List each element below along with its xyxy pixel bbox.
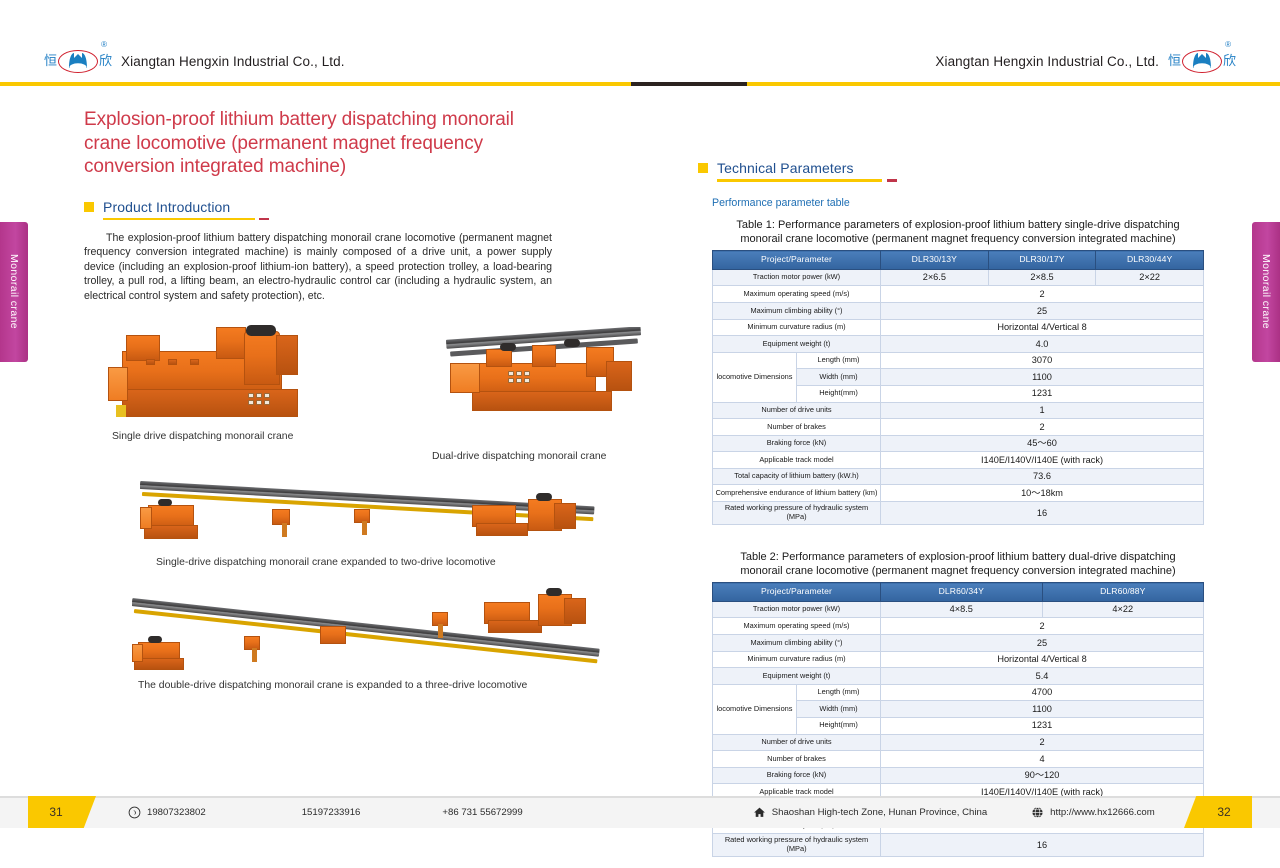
table-row: Maximum climbing ability (°) 25	[713, 635, 1204, 652]
phone-icon	[128, 806, 141, 819]
row-label: Length (mm)	[797, 352, 881, 369]
registered-trademark-icon: ®	[101, 40, 107, 49]
section-title-product-introduction: Product Introduction	[103, 199, 230, 215]
row-label: Length (mm)	[797, 684, 881, 701]
logo-char-heng: 恒	[44, 55, 57, 68]
table1-head: Project/Parameter DLR30/13Y DLR30/17Y DL…	[713, 251, 1204, 270]
footer-phone-3: +86 731 55672999	[442, 807, 522, 818]
row-value: 4×22	[1042, 601, 1204, 618]
side-tab-monorail-crane-left[interactable]: Monorail crane	[0, 222, 28, 362]
row-value: 2×22	[1096, 269, 1204, 286]
registered-trademark-icon-right: ®	[1225, 40, 1231, 49]
table1-col-dlr30-44y: DLR30/44Y	[1096, 251, 1204, 270]
caption-expanded-two-drive: Single-drive dispatching monorail crane …	[156, 557, 716, 568]
company-name-left: Xiangtan Hengxin Industrial Co., Ltd.	[121, 54, 345, 69]
header-divider	[0, 82, 1280, 86]
brochure-page: 恒 ® 欣 Xiangtan Hengxin Industrial Co., L…	[0, 0, 1280, 868]
row-value: 2	[881, 734, 1204, 751]
table2-header-row: Project/Parameter DLR60/34Y DLR60/88Y	[713, 583, 1204, 602]
table-row: Braking force (kN) 45～60	[713, 435, 1204, 452]
table1-header-row: Project/Parameter DLR30/13Y DLR30/17Y DL…	[713, 251, 1204, 270]
page-number-right-label: 32	[1217, 805, 1230, 819]
logo-mountain-icon: ®	[58, 49, 98, 74]
row-value: 5.4	[881, 668, 1204, 685]
photo-three-drive-expanded	[132, 588, 612, 676]
row-label: Number of brakes	[713, 751, 881, 768]
row-label: Comprehensive endurance of lithium batte…	[713, 485, 881, 502]
bullet-square-icon-tech	[698, 163, 708, 173]
row-value: 1231	[881, 717, 1204, 734]
row-value: Horizontal 4/Vertical 8	[881, 651, 1204, 668]
table-row: Traction motor power (kW) 2×6.5 2×8.5 2×…	[713, 269, 1204, 286]
bullet-square-icon	[84, 202, 94, 212]
row-label: Traction motor power (kW)	[713, 269, 881, 286]
row-value: 2	[881, 618, 1204, 635]
table2-caption: Table 2: Performance parameters of explo…	[723, 550, 1193, 578]
section-underline-tech	[717, 179, 917, 183]
row-value: 2×8.5	[988, 269, 1096, 286]
table-row: Applicable track model I140E/I140V/I140E…	[713, 452, 1204, 469]
table1-col-dlr30-13y: DLR30/13Y	[881, 251, 989, 270]
row-value: 2×6.5	[881, 269, 989, 286]
row-value: 1	[881, 402, 1204, 419]
row-label: Maximum climbing ability (°)	[713, 303, 881, 320]
row-value: I140E/I140V/I140E (with rack)	[881, 452, 1204, 469]
right-column: Technical Parameters Performance paramet…	[698, 160, 1218, 857]
logo-mountain-icon-right: ®	[1182, 49, 1222, 74]
performance-table-label: Performance parameter table	[712, 197, 1218, 209]
footer-phone-1-text: 19807323802	[147, 807, 206, 818]
row-label: Braking force (kN)	[713, 435, 881, 452]
table-row: Maximum operating speed (m/s) 2	[713, 286, 1204, 303]
side-tab-monorail-crane-right[interactable]: Monorail crane	[1252, 222, 1280, 362]
globe-icon	[1031, 806, 1044, 819]
photo-two-drive-expanded	[140, 479, 610, 549]
section-underline	[103, 218, 286, 222]
footer-address: Shaoshan High-tech Zone, Hunan Province,…	[753, 806, 987, 819]
table-spacer	[698, 525, 1218, 541]
underline-yellow-tech	[717, 179, 882, 182]
row-label: Maximum operating speed (m/s)	[713, 618, 881, 635]
header-brand-right: Xiangtan Hengxin Industrial Co., Ltd. 恒 …	[935, 46, 1236, 76]
row-label: Width (mm)	[797, 369, 881, 386]
underline-red-tech	[887, 179, 897, 182]
photo-dual-drive-crane	[446, 327, 646, 427]
company-logo-left: 恒 ® 欣	[44, 46, 112, 76]
table2-col-project: Project/Parameter	[713, 583, 881, 602]
table-row: Maximum operating speed (m/s) 2	[713, 618, 1204, 635]
header-rule-yellow-right	[747, 82, 1280, 86]
row-value: 90～120	[881, 767, 1204, 784]
row-label: Equipment weight (t)	[713, 668, 881, 685]
caption-expanded-three-drive: The double-drive dispatching monorail cr…	[138, 680, 698, 691]
table-row: Minimum curvature radius (m) Horizontal …	[713, 319, 1204, 336]
row-label: Number of drive units	[713, 734, 881, 751]
row-label: Maximum climbing ability (°)	[713, 635, 881, 652]
row-value: 2	[881, 286, 1204, 303]
page-number-left-label: 31	[49, 805, 62, 819]
logo-char-xin-right: 欣	[1223, 55, 1236, 68]
table1-col-project: Project/Parameter	[713, 251, 881, 270]
section-title-technical-parameters: Technical Parameters	[717, 160, 854, 176]
page-header: 恒 ® 欣 Xiangtan Hengxin Industrial Co., L…	[0, 0, 1280, 86]
row-value: 45～60	[881, 435, 1204, 452]
company-name-right: Xiangtan Hengxin Industrial Co., Ltd.	[935, 54, 1159, 69]
row-value: 25	[881, 635, 1204, 652]
photo-row-2	[84, 479, 644, 551]
row-value: 2	[881, 419, 1204, 436]
table-row: Equipment weight (t) 5.4	[713, 668, 1204, 685]
product-introduction-heading: Product Introduction	[84, 199, 644, 215]
table-row: Maximum climbing ability (°) 25	[713, 303, 1204, 320]
table-row: Number of brakes 4	[713, 751, 1204, 768]
row-label: Height(mm)	[797, 385, 881, 402]
caption-single-drive: Single drive dispatching monorail crane	[112, 431, 672, 442]
row-value: 4	[881, 751, 1204, 768]
table-row: Comprehensive endurance of lithium batte…	[713, 485, 1204, 502]
row-value: 4.0	[881, 336, 1204, 353]
row-label: Total capacity of lithium battery (kW.h)	[713, 468, 881, 485]
row-label: Minimum curvature radius (m)	[713, 319, 881, 336]
header-rule-dark-center	[631, 82, 747, 86]
row-label: Number of brakes	[713, 419, 881, 436]
table2-col-dlr60-34y: DLR60/34Y	[881, 583, 1043, 602]
logo-char-heng-right: 恒	[1168, 55, 1181, 68]
product-introduction-text: The explosion-proof lithium battery disp…	[84, 231, 552, 304]
company-logo-right: 恒 ® 欣	[1168, 46, 1236, 76]
home-icon	[753, 806, 766, 819]
table-row: Rated working pressure of hydraulic syst…	[713, 501, 1204, 524]
table-row: Braking force (kN) 90～120	[713, 767, 1204, 784]
photo-row-3	[84, 588, 644, 678]
side-tab-label-left: Monorail crane	[8, 254, 20, 329]
table1-body: Traction motor power (kW) 2×6.5 2×8.5 2×…	[713, 269, 1204, 524]
row-value: 1100	[881, 701, 1204, 718]
row-label: Height(mm)	[797, 717, 881, 734]
row-value: 10～18km	[881, 485, 1204, 502]
footer-phone-1: 19807323802	[128, 806, 206, 819]
table-row: Number of drive units 1	[713, 402, 1204, 419]
table2-col-dlr60-88y: DLR60/88Y	[1042, 583, 1204, 602]
left-column: Explosion-proof lithium battery dispatch…	[84, 108, 644, 689]
row-value: 25	[881, 303, 1204, 320]
row-label: Braking force (kN)	[713, 767, 881, 784]
footer-address-text: Shaoshan High-tech Zone, Hunan Province,…	[772, 807, 987, 818]
row-value: 16	[881, 501, 1204, 524]
page-title: Explosion-proof lithium battery dispatch…	[84, 108, 534, 179]
footer-website[interactable]: http://www.hx12666.com	[1031, 806, 1155, 819]
row-group-label: locomotive Dimensions	[713, 352, 797, 402]
row-value: 1231	[881, 385, 1204, 402]
photo-single-drive-crane	[98, 319, 333, 424]
row-value: 4×8.5	[881, 601, 1043, 618]
photo-row-1	[84, 319, 644, 437]
table2-head: Project/Parameter DLR60/34Y DLR60/88Y	[713, 583, 1204, 602]
footer-website-text: http://www.hx12666.com	[1050, 807, 1155, 818]
table-row: Equipment weight (t) 4.0	[713, 336, 1204, 353]
table-row: Total capacity of lithium battery (kW.h)…	[713, 468, 1204, 485]
underline-yellow	[103, 218, 255, 221]
table-row: Traction motor power (kW) 4×8.5 4×22	[713, 601, 1204, 618]
table-single-drive-parameters: Project/Parameter DLR30/13Y DLR30/17Y DL…	[712, 250, 1204, 525]
row-label: Number of drive units	[713, 402, 881, 419]
table-row: Number of drive units 2	[713, 734, 1204, 751]
header-rule-yellow-left	[0, 82, 631, 86]
row-label: Maximum operating speed (m/s)	[713, 286, 881, 303]
side-tab-label-right: Monorail crane	[1260, 254, 1272, 329]
table1-col-dlr30-17y: DLR30/17Y	[988, 251, 1096, 270]
underline-red	[259, 218, 269, 221]
header-brand-left: 恒 ® 欣 Xiangtan Hengxin Industrial Co., L…	[44, 46, 345, 76]
logo-char-xin: 欣	[99, 55, 112, 68]
row-group-label: locomotive Dimensions	[713, 684, 797, 734]
footer-phone-3-text: +86 731 55672999	[442, 807, 522, 818]
row-value: 73.6	[881, 468, 1204, 485]
row-label: Traction motor power (kW)	[713, 601, 881, 618]
table-row: locomotive Dimensions Length (mm) 4700	[713, 684, 1204, 701]
row-label: Minimum curvature radius (m)	[713, 651, 881, 668]
row-label: Applicable track model	[713, 452, 881, 469]
footer-phone-2: 15197233916	[302, 807, 361, 818]
footer-contact-items: 19807323802 15197233916 +86 731 55672999…	[128, 796, 1155, 828]
row-value: Horizontal 4/Vertical 8	[881, 319, 1204, 336]
logo-ellipse-right	[1182, 50, 1222, 73]
table1-caption: Table 1: Performance parameters of explo…	[723, 218, 1193, 246]
technical-parameters-heading: Technical Parameters	[698, 160, 1218, 176]
page-footer: 31 19807323802 15197233916 +86 731 55672…	[0, 796, 1280, 868]
row-label: Equipment weight (t)	[713, 336, 881, 353]
row-value: 3070	[881, 352, 1204, 369]
table-row: locomotive Dimensions Length (mm) 3070	[713, 352, 1204, 369]
table-row: Minimum curvature radius (m) Horizontal …	[713, 651, 1204, 668]
table-row: Number of brakes 2	[713, 419, 1204, 436]
row-value: 4700	[881, 684, 1204, 701]
footer-phone-2-text: 15197233916	[302, 807, 361, 818]
row-value: 1100	[881, 369, 1204, 386]
row-label: Rated working pressure of hydraulic syst…	[713, 501, 881, 524]
logo-ellipse	[58, 50, 98, 73]
row-label: Width (mm)	[797, 701, 881, 718]
